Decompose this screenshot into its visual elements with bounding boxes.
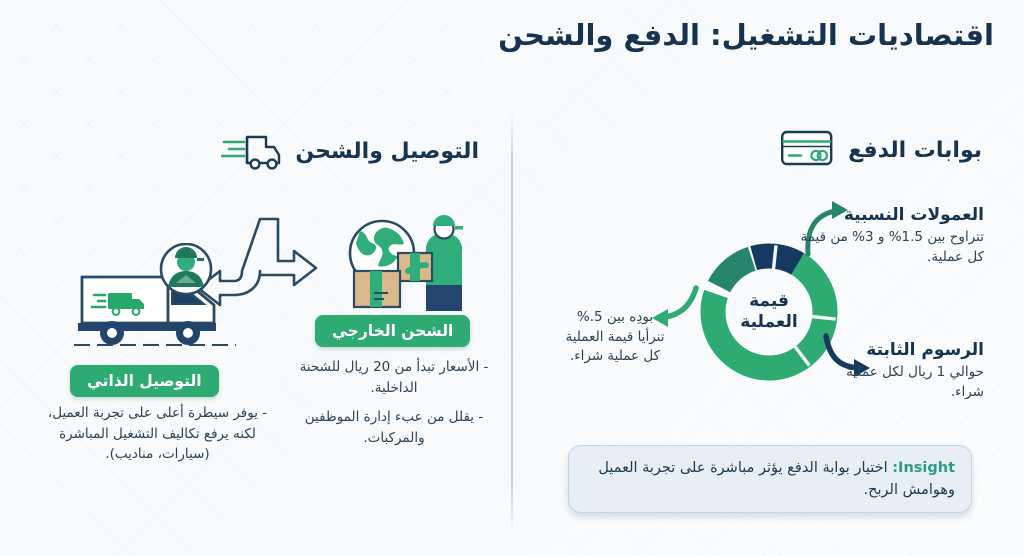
shipping-section-header: التوصيل والشحن <box>221 128 479 174</box>
external-shipping-bullet-1: - الأسعار تبدأ من 20 ريال للشحنة الداخلي… <box>295 357 493 398</box>
shipping-header-label: التوصيل والشحن <box>295 139 479 164</box>
fixed-fees-description: حوالي 1 ريال لكل عملية شراء. <box>819 363 984 402</box>
fixed-fees-title: الرسوم الثابتة <box>819 340 984 360</box>
payments-section-header: بوابات الدفع <box>780 128 982 172</box>
external-shipping-globe-illustration <box>330 213 480 317</box>
delivery-truck-icon <box>221 128 283 174</box>
percentage-fees-description: تتراوح بين 1.5% و 3% من قيمة كل عملية. <box>784 228 984 267</box>
panel-divider <box>511 112 513 532</box>
self-delivery-van-illustration <box>68 243 258 359</box>
self-delivery-badge: التوصيل الذاتي <box>70 365 219 397</box>
percentage-fees-callout: العمولات النسبية تتراوح بين 1.5% و 3% من… <box>784 205 984 267</box>
insight-box: Insight: اختيار بوابة الدفع يؤثر مباشرة … <box>568 445 972 513</box>
external-shipping-description: - الأسعار تبدأ من 20 ريال للشحنة الداخلي… <box>295 357 493 448</box>
external-shipping-bullet-2: - يقلل من عبء إدارة الموظفين والمركبات. <box>295 407 493 448</box>
percentage-fees-title: العمولات النسبية <box>784 205 984 225</box>
fixed-fees-callout: الرسوم الثابتة حوالي 1 ريال لكل عملية شر… <box>819 340 984 402</box>
left-note-line2: تنرأيا قيمة العملية <box>540 328 690 348</box>
insight-tag: Insight: <box>892 460 955 476</box>
left-note-callout: بودِه بين 5.% تنرأيا قيمة العملية كل عمل… <box>540 308 690 367</box>
payments-header-label: بوابات الدفع <box>848 138 982 163</box>
credit-card-icon <box>780 128 834 172</box>
infographic-page: اقتصاديات التشغيل: الدفع والشحن بوابات ا… <box>0 0 1024 556</box>
self-delivery-description: - يوفر سيطرة أعلى على تجربة العميل، لكنه… <box>40 403 275 465</box>
left-note-line1: بودِه بين 5.% <box>540 308 690 328</box>
left-note-line3: كل عملية شراء. <box>540 347 690 367</box>
page-title: اقتصاديات التشغيل: الدفع والشحن <box>498 18 994 52</box>
external-shipping-badge: الشحن الخارجي <box>315 315 470 347</box>
